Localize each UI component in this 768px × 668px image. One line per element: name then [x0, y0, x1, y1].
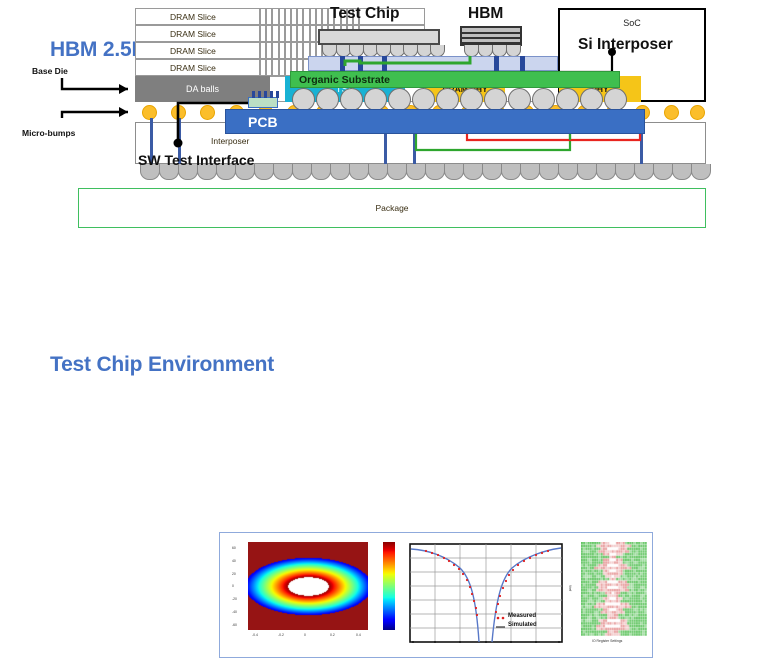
eye-ytick: 40 — [232, 559, 236, 563]
shmoo-canvas — [581, 542, 647, 636]
eye-xtick: 0.2 — [330, 633, 335, 637]
legend-simulated: Simulated — [508, 622, 537, 628]
shmoo-xlabel: IO Register Settings — [592, 639, 622, 643]
shmoo-plot: IO Register Settings — [578, 540, 650, 652]
eye-xtick: -0.4 — [252, 633, 258, 637]
eye-ytick: 60 — [232, 546, 236, 550]
eye-diagram-colorbar — [383, 542, 395, 630]
eye-diagram-canvas — [248, 542, 368, 630]
insertion-loss-svg — [408, 540, 568, 650]
sw-test-interface-label: SW Test Interface — [138, 152, 224, 168]
eye-ytick: -20 — [232, 597, 237, 601]
page-title-test-chip: Test Chip Environment — [50, 353, 274, 377]
legend-measured: Measured — [508, 613, 536, 619]
eye-xtick: 0.4 — [356, 633, 361, 637]
measurement-plot-panel: 6040200-20-40-60 -0.4-0.200.20.4 — [219, 532, 653, 658]
eye-ytick: 0 — [232, 584, 234, 588]
insertion-loss-plot: Measured Simulated — [408, 540, 568, 650]
shmoo-ylabel: Vref — [568, 585, 572, 591]
eye-xtick: 0 — [304, 633, 306, 637]
eye-diagram-plot: 6040200-20-40-60 -0.4-0.200.20.4 — [230, 540, 370, 650]
eye-ytick: -40 — [232, 610, 237, 614]
eye-ytick: -60 — [232, 623, 237, 627]
sw-test-leader — [0, 0, 768, 278]
eye-ytick: 20 — [232, 572, 236, 576]
test-chip-environment-diagram: Test Chip HBM Si Interposer Organic Subs… — [0, 250, 768, 528]
eye-xtick: -0.2 — [278, 633, 284, 637]
